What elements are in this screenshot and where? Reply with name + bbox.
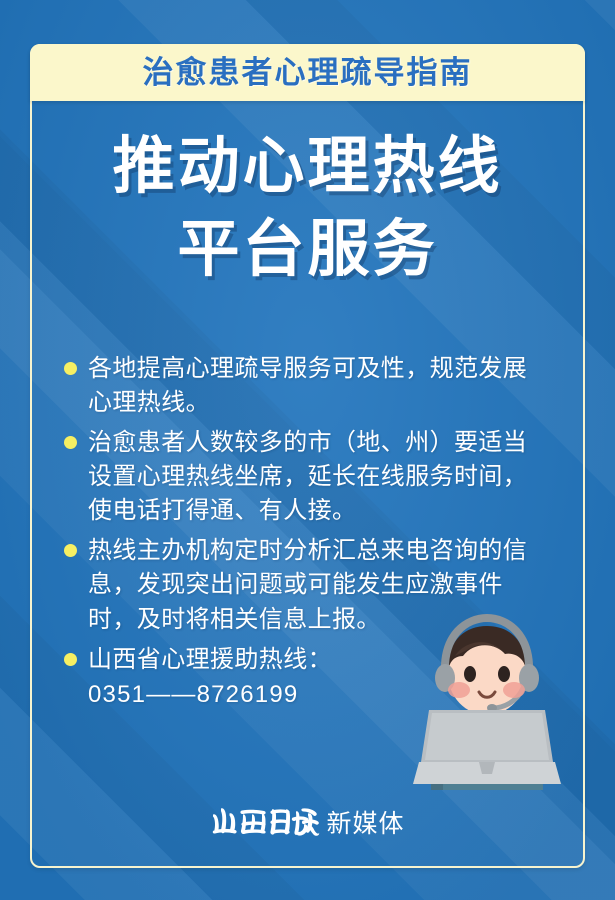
list-item-text: 各地提高心理疏导服务可及性，规范发展心理热线。 xyxy=(88,352,540,420)
header-banner: 治愈患者心理疏导指南 xyxy=(30,44,585,101)
header-banner-title: 治愈患者心理疏导指南 xyxy=(143,57,473,88)
shanxi-daily-logo-icon xyxy=(210,795,320,843)
bullet-dot-icon xyxy=(64,544,77,557)
bullet-dot-icon xyxy=(64,436,77,449)
bullet-dot-icon xyxy=(64,653,77,666)
bullet-dot-icon xyxy=(64,362,77,375)
list-item-text: 治愈患者人数较多的市（地、州）要适当设置心理热线坐席，延长在线服务时间，使电话打… xyxy=(88,426,540,528)
page-title-line-1: 推动心理热线 xyxy=(30,125,585,208)
poster-root: 治愈患者心理疏导指南 推动心理热线 平台服务 各地提高心理疏导服务可及性，规范发… xyxy=(0,0,615,900)
footer-logo-subtext: 新媒体 xyxy=(326,812,404,843)
list-item: 治愈患者人数较多的市（地、州）要适当设置心理热线坐席，延长在线服务时间，使电话打… xyxy=(62,426,540,528)
list-item: 各地提高心理疏导服务可及性，规范发展心理热线。 xyxy=(62,352,540,420)
call-center-operator-illustration xyxy=(395,612,580,790)
footer-logo: 新媒体 xyxy=(0,795,615,843)
page-title-line-2: 平台服务 xyxy=(30,208,585,291)
page-title: 推动心理热线 平台服务 xyxy=(30,125,585,291)
